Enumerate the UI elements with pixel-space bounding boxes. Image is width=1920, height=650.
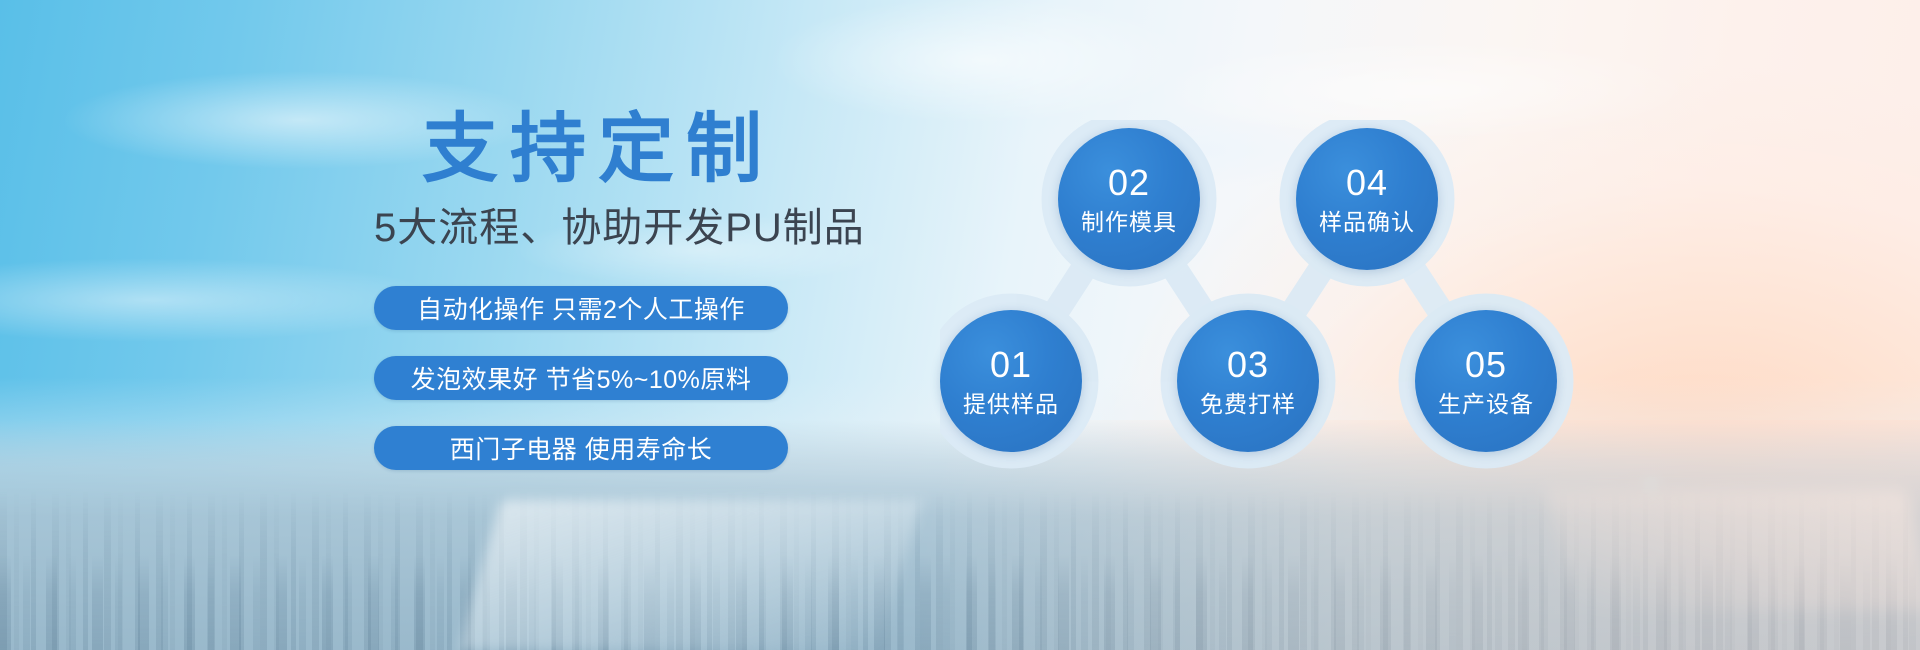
page-subtitle: 5大流程、协助开发PU制品 xyxy=(374,204,804,252)
promo-banner: 支持定制 5大流程、协助开发PU制品 自动化操作 只需2个人工操作 发泡效果好 … xyxy=(0,0,1920,650)
step-label: 免费打样 xyxy=(1200,393,1296,416)
process-step-01[interactable]: 01 提供样品 xyxy=(940,310,1082,452)
process-step-05[interactable]: 05 生产设备 xyxy=(1415,310,1557,452)
page-title: 支持定制 xyxy=(380,112,804,188)
feature-pill[interactable]: 发泡效果好 节省5%~10%原料 xyxy=(374,356,788,400)
feature-pill[interactable]: 西门子电器 使用寿命长 xyxy=(374,426,788,470)
feature-pill[interactable]: 自动化操作 只需2个人工操作 xyxy=(374,286,788,330)
step-label: 样品确认 xyxy=(1319,211,1415,234)
step-number: 01 xyxy=(990,347,1032,383)
step-number: 04 xyxy=(1346,165,1388,201)
process-step-02[interactable]: 02 制作模具 xyxy=(1058,128,1200,270)
step-label: 生产设备 xyxy=(1438,393,1534,416)
step-label: 提供样品 xyxy=(963,393,1059,416)
step-number: 02 xyxy=(1108,165,1150,201)
feature-pill-list: 自动化操作 只需2个人工操作 发泡效果好 节省5%~10%原料 西门子电器 使用… xyxy=(374,286,804,470)
process-step-04[interactable]: 04 样品确认 xyxy=(1296,128,1438,270)
step-label: 制作模具 xyxy=(1081,211,1177,234)
process-step-03[interactable]: 03 免费打样 xyxy=(1177,310,1319,452)
step-number: 05 xyxy=(1465,347,1507,383)
banner-text-block: 支持定制 5大流程、协助开发PU制品 自动化操作 只需2个人工操作 发泡效果好 … xyxy=(374,112,804,470)
step-number: 03 xyxy=(1227,347,1269,383)
process-diagram: 01 提供样品 02 制作模具 03 免费打样 04 样品确认 05 生产设备 xyxy=(940,120,1640,540)
